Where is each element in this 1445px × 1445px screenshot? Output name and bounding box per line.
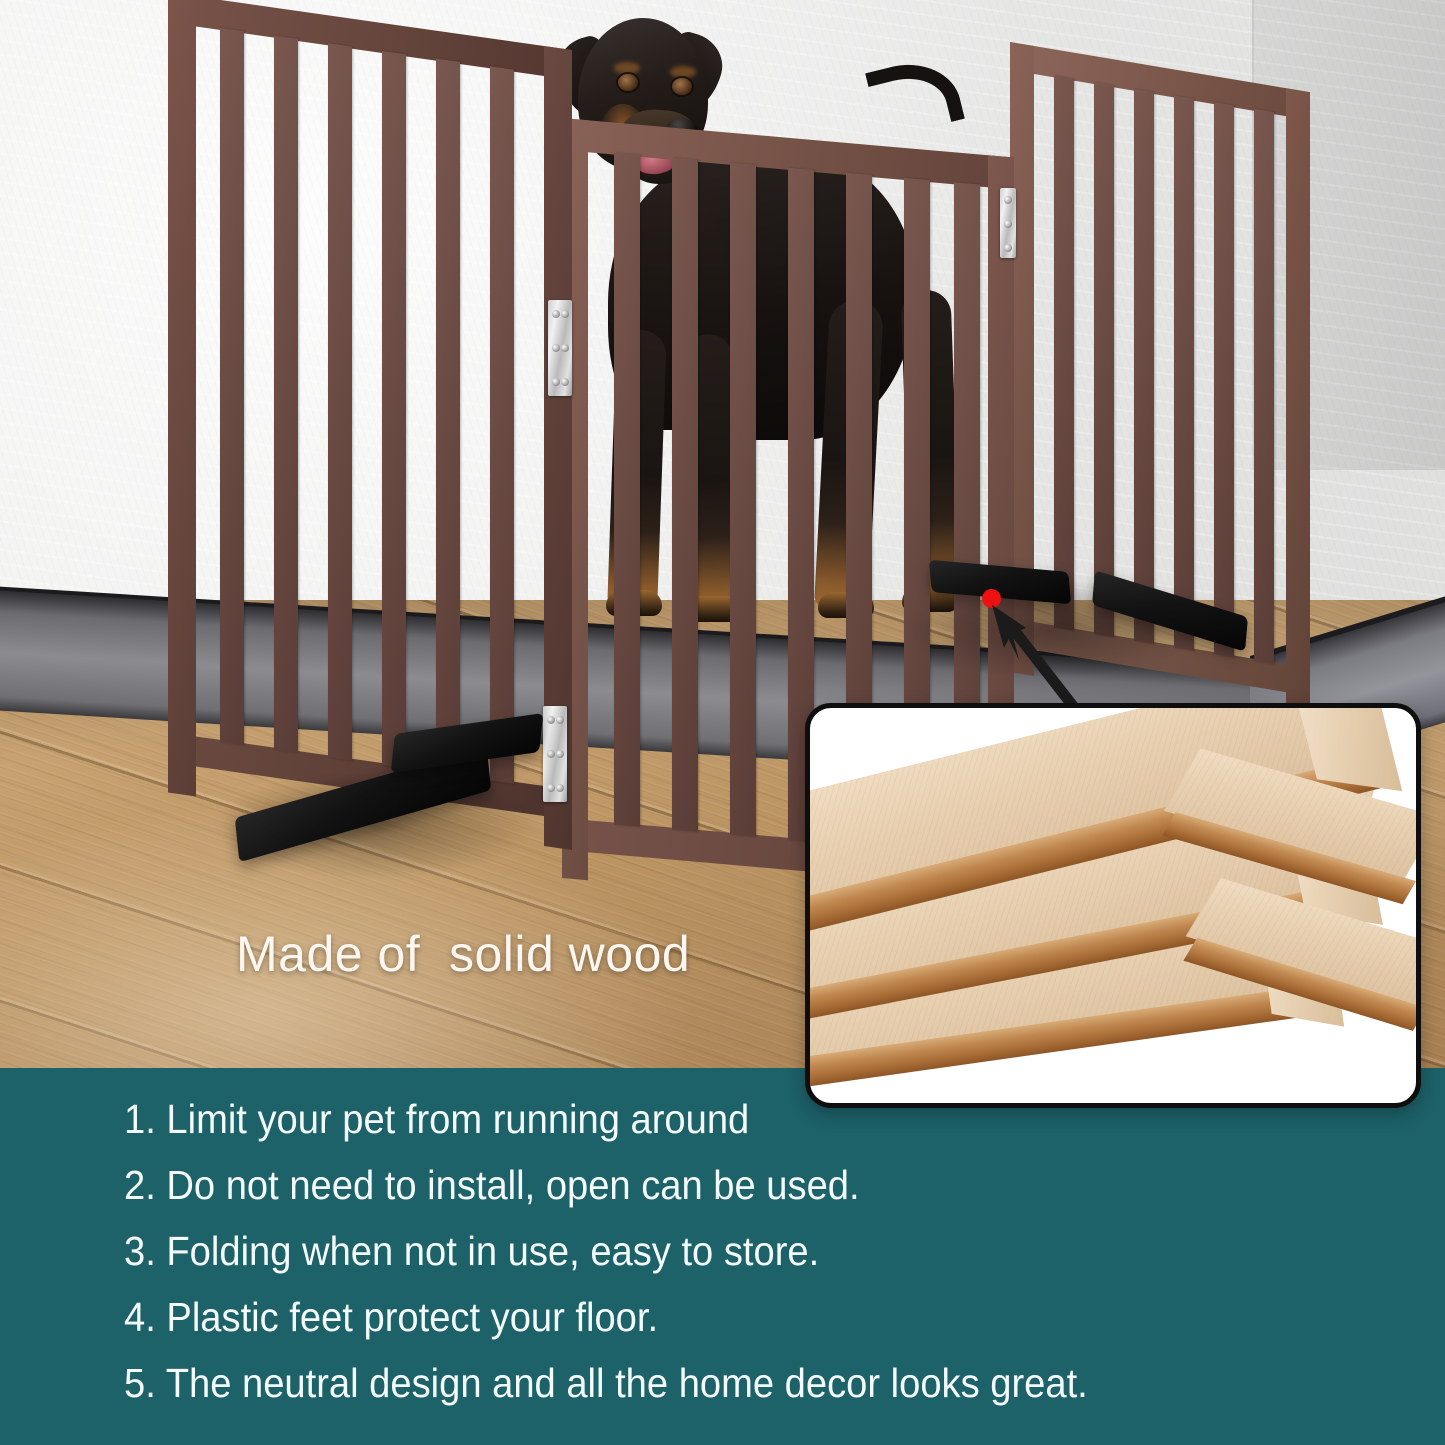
panel-right-stile: [1286, 88, 1310, 722]
panel-left-stile: [168, 0, 196, 796]
dog-brow-right: [670, 66, 696, 78]
feature-list-panel: 1. Limit your pet from running around 2.…: [0, 1068, 1445, 1445]
gate-slat: [1134, 89, 1154, 644]
gate-slat: [672, 158, 698, 832]
gate-slat: [436, 59, 460, 776]
dog-eye-left: [618, 74, 638, 91]
gate-slat: [1054, 75, 1074, 630]
dog-eye-right: [672, 78, 692, 95]
feature-item-5: 5. The neutral design and all the home d…: [124, 1350, 1314, 1416]
dog-tail: [865, 53, 965, 140]
feature-item-3: 3. Folding when not in use, easy to stor…: [124, 1218, 1314, 1284]
gate-slat: [1094, 82, 1114, 637]
gate-slat: [274, 36, 298, 753]
wood-boards-inset: [805, 703, 1421, 1108]
gate-slat: [730, 163, 756, 837]
gate-slat: [382, 51, 406, 768]
dog-brow-left: [614, 62, 640, 74]
feature-item-4: 4. Plastic feet protect your floor.: [124, 1284, 1314, 1350]
gate-slat: [614, 153, 640, 827]
gate-slat: [1254, 109, 1274, 664]
red-dot-marker: [982, 589, 1001, 608]
feature-list: 1. Limit your pet from running around 2.…: [124, 1086, 1404, 1416]
gate-hinge-lower: [543, 706, 567, 802]
product-marketing-image: Made of solid wood: [0, 0, 1445, 1445]
gate-slat: [328, 43, 352, 760]
gate-slat: [1174, 95, 1194, 650]
gate-slat: [220, 28, 244, 745]
gate-hinge-upper: [548, 300, 572, 396]
caption-made-of-solid-wood: Made of solid wood: [236, 925, 690, 983]
feature-item-2: 2. Do not need to install, open can be u…: [124, 1152, 1314, 1218]
gate-hinge-right: [1000, 188, 1016, 258]
gate-slat: [490, 66, 514, 783]
gate-slat: [1214, 102, 1234, 657]
